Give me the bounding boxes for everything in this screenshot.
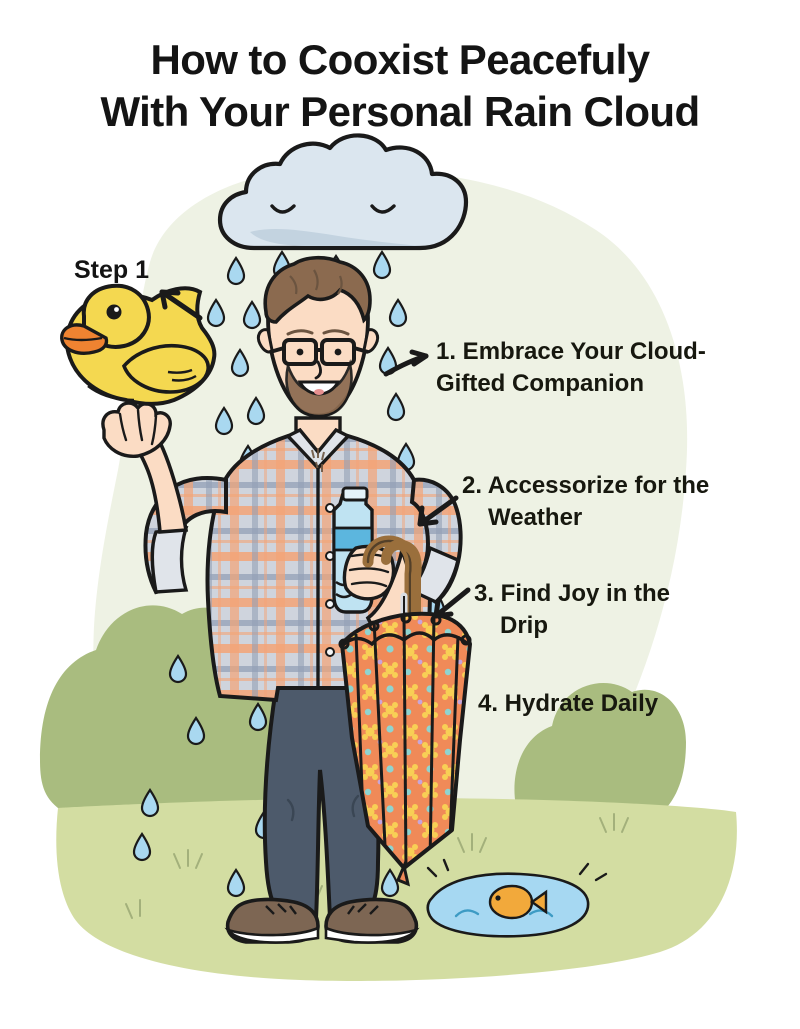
list-item-line-1: 3. Find Joy in the [474,580,670,607]
list-item: 1. Embrace Your Cloud- Gifted Companion [436,336,766,400]
infographic-poster: How to Cooxist Peacefuly With Your Perso… [0,0,800,1029]
list-item-line-1: 1. Embrace Your Cloud- [436,338,706,365]
list-item-line-2: Weather [462,502,772,534]
list-item-line-2: Gifted Companion [436,368,766,400]
list-item: 4. Hydrate Daily [478,688,768,720]
rain-cloud-icon [220,135,466,248]
right-shoe [326,900,416,943]
list-item: 3. Find Joy in the Drip [474,578,764,642]
step-1-label: Step 1 [74,256,149,285]
rubber-duck-icon [62,286,215,404]
list-item: 2. Accessorize for the Weather [462,470,772,534]
list-item-line-2: Drip [474,610,764,642]
list-item-line-1: 4. Hydrate Daily [478,690,658,717]
left-shoe [228,900,318,943]
list-item-line-1: 2. Accessorize for the [462,472,709,499]
